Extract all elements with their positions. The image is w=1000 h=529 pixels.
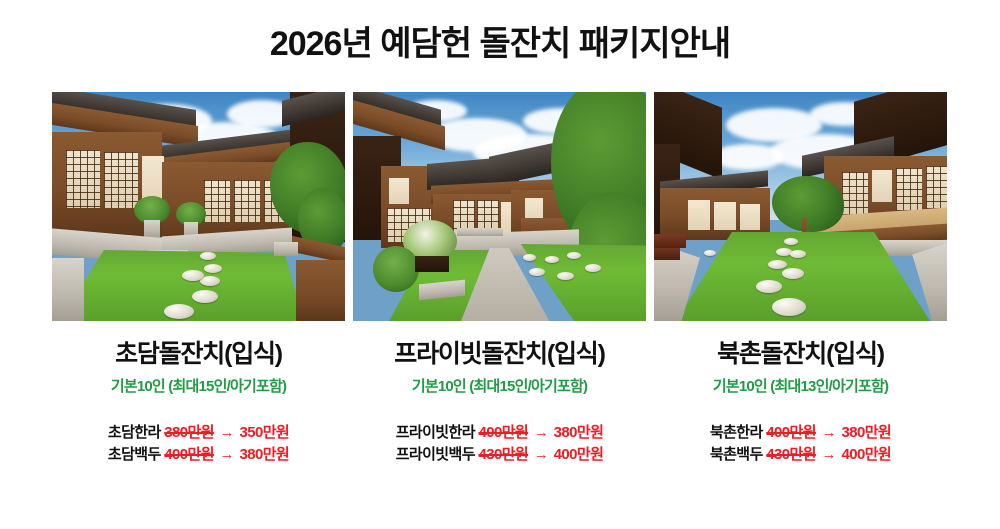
stepping-stone <box>567 252 581 259</box>
price-label: 북촌백두 <box>710 446 763 463</box>
stepping-stone <box>704 250 716 256</box>
lattice-door <box>896 168 922 212</box>
price-row: 프라이빗한라 400만원 → 380만원 <box>353 422 646 445</box>
lattice-door <box>234 180 260 222</box>
arrow-icon: → <box>819 446 837 463</box>
price-label: 프라이빗백두 <box>396 446 475 463</box>
arrow-icon: → <box>532 446 550 463</box>
package-title: 북촌돌잔치(입식) <box>654 340 947 369</box>
package-photo-bukchon[interactable] <box>654 92 947 321</box>
cloud-shape <box>712 144 784 170</box>
price-original: 400만원 <box>478 424 528 441</box>
stepping-stone <box>784 238 798 245</box>
price-discounted: 350만원 <box>239 424 289 441</box>
stepping-stone <box>756 280 782 293</box>
package-photo-private[interactable] <box>353 92 646 321</box>
price-row: 북촌백두 430만원 → 400만원 <box>654 444 947 467</box>
price-row: 초담한라 380만원 → 350만원 <box>52 422 345 445</box>
package-block-bukchon: 북촌돌잔치(입식) 기본10인 (최대13인/아기포함) 북촌한라 400만원 … <box>654 340 947 520</box>
stepping-stone <box>164 304 194 319</box>
package-title: 초담돌잔치(입식) <box>52 340 345 369</box>
price-row: 프라이빗백두 430만원 → 400만원 <box>353 444 646 467</box>
arrow-icon: → <box>217 446 235 463</box>
package-block-private: 프라이빗돌잔치(입식) 기본10인 (최대15인/아기포함) 프라이빗한라 40… <box>353 340 646 520</box>
stepping-stone <box>790 250 806 258</box>
stepping-stone <box>585 264 601 272</box>
wooden-bench <box>654 234 686 248</box>
stone-base-left <box>52 258 84 321</box>
stepping-stone <box>200 252 216 260</box>
price-list: 프라이빗한라 400만원 → 380만원 프라이빗백두 430만원 → 400만… <box>353 422 646 467</box>
price-list: 북촌한라 400만원 → 380만원 북촌백두 430만원 → 400만원 <box>654 422 947 467</box>
stone-step <box>457 228 503 236</box>
stepping-stone <box>782 268 804 279</box>
stepping-stone <box>545 256 559 263</box>
price-original: 400만원 <box>164 446 214 463</box>
stepping-stone <box>182 270 204 281</box>
wooden-deck <box>296 260 345 321</box>
package-photo-chodam[interactable] <box>52 92 345 321</box>
arrow-icon: → <box>819 424 837 441</box>
courtyard-tree <box>772 176 844 232</box>
price-row: 초담백두 400만원 → 380만원 <box>52 444 345 467</box>
lattice-door <box>104 152 138 208</box>
package-title: 프라이빗돌잔치(입식) <box>353 340 646 369</box>
lattice-door <box>926 166 947 212</box>
trimmed-shrub <box>373 246 419 292</box>
lattice-door <box>66 150 100 208</box>
price-discounted: 400만원 <box>554 446 604 463</box>
planter-box <box>415 256 449 272</box>
price-label: 초담한라 <box>108 424 161 441</box>
price-row: 북촌한라 400만원 → 380만원 <box>654 422 947 445</box>
price-original: 400만원 <box>766 424 816 441</box>
price-list: 초담한라 380만원 → 350만원 초담백두 400만원 → 380만원 <box>52 422 345 467</box>
price-original: 430만원 <box>766 446 816 463</box>
paper-screen <box>714 202 736 230</box>
arrow-icon: → <box>217 424 235 441</box>
price-discounted: 380만원 <box>239 446 289 463</box>
stepping-stone <box>204 264 222 273</box>
stepping-stone <box>529 268 545 276</box>
price-label: 초담백두 <box>108 446 161 463</box>
paper-screen <box>740 204 760 230</box>
lattice-door <box>842 172 868 214</box>
photo-gallery <box>52 92 948 321</box>
price-discounted: 380만원 <box>841 424 891 441</box>
price-discounted: 380만원 <box>554 424 604 441</box>
planter-pot <box>144 220 160 238</box>
paper-screen <box>389 178 409 204</box>
package-capacity: 기본10인 (최대13인/아기포함) <box>654 375 947 396</box>
package-poster: 2026년 예담헌 돌잔치 패키지안내 <box>0 0 1000 529</box>
price-discounted: 400만원 <box>841 446 891 463</box>
package-block-chodam: 초담돌잔치(입식) 기본10인 (최대15인/아기포함) 초담한라 380만원 … <box>52 340 345 520</box>
paper-screen <box>872 170 892 202</box>
wooden-bench <box>654 248 680 260</box>
package-capacity: 기본10인 (최대15인/아기포함) <box>353 375 646 396</box>
price-original: 380만원 <box>164 424 214 441</box>
price-label: 프라이빗한라 <box>396 424 475 441</box>
paper-screen <box>688 200 710 230</box>
lattice-door <box>204 180 230 222</box>
price-label: 북촌한라 <box>710 424 763 441</box>
stepping-stone <box>772 298 806 316</box>
stone-jars <box>274 242 298 256</box>
price-original: 430만원 <box>478 446 528 463</box>
stepping-stone <box>768 260 787 269</box>
arrow-icon: → <box>532 424 550 441</box>
package-captions: 초담돌잔치(입식) 기본10인 (최대15인/아기포함) 초담한라 380만원 … <box>52 340 948 520</box>
page-title: 2026년 예담헌 돌잔치 패키지안내 <box>0 16 1000 65</box>
stepping-stone <box>557 272 574 280</box>
stepping-stone <box>523 254 536 261</box>
package-capacity: 기본10인 (최대15인/아기포함) <box>52 375 345 396</box>
stepping-stone <box>192 290 218 303</box>
